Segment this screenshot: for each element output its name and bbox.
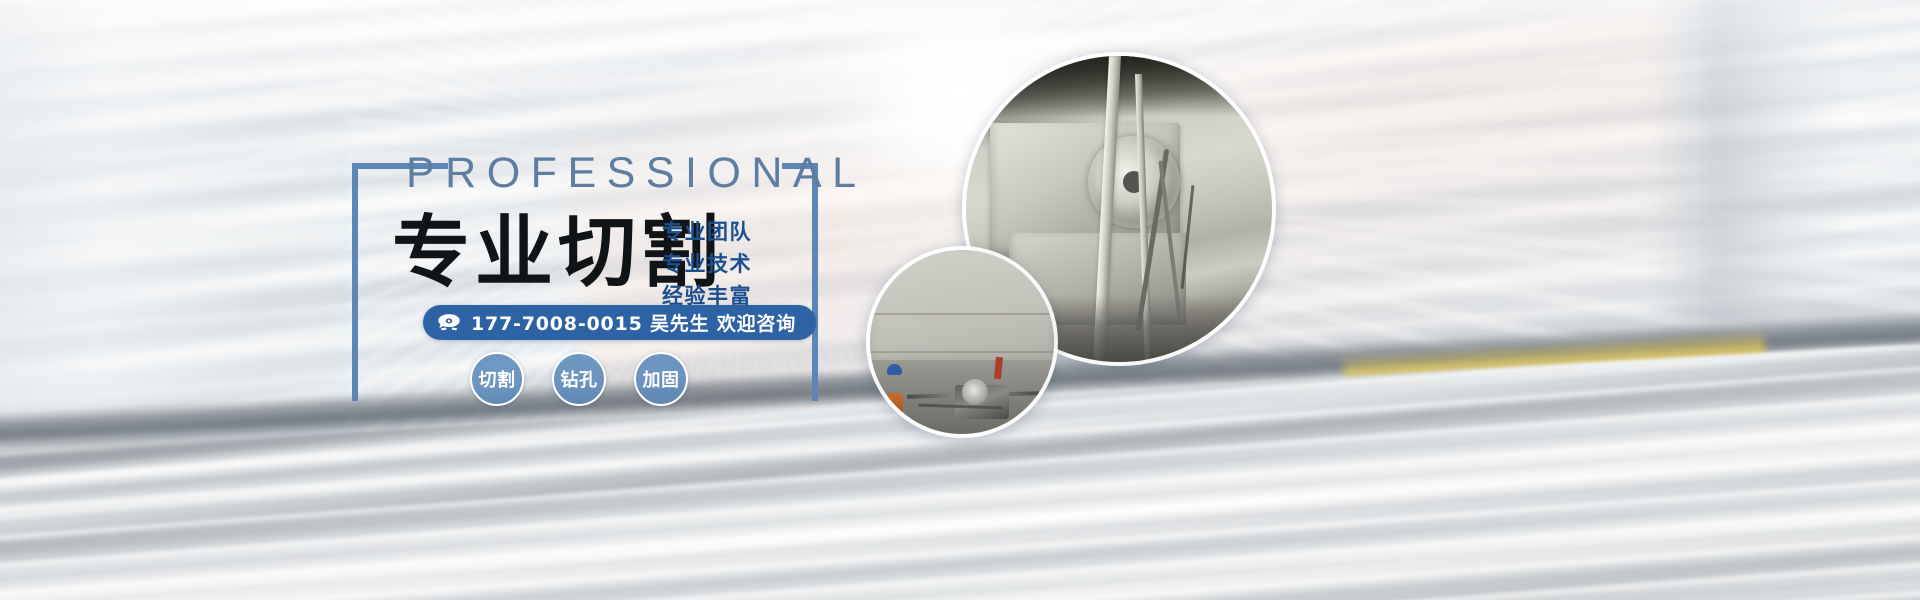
feature-list: 专业团队 专业技术 经验丰富 xyxy=(662,219,752,310)
contact-phone-text: 177-7008-0015 吴先生 欢迎咨询 xyxy=(471,309,796,336)
photo-sub-seam xyxy=(870,313,1054,315)
wall-saw-worker-photo xyxy=(866,246,1058,438)
feature-item-technology: 专业技术 xyxy=(662,251,752,278)
photo-sub-saw-blade xyxy=(962,379,988,405)
photo-sub-worker-body xyxy=(887,393,903,423)
feature-item-team: 专业团队 xyxy=(662,219,752,246)
photo-sub-seam-2 xyxy=(870,351,1054,353)
telephone-icon xyxy=(437,312,461,334)
promo-banner: PROFESSIONAL 专业切割 专业团队 专业技术 经验丰富 177-700… xyxy=(0,0,1920,600)
frame-left-segment xyxy=(352,163,358,401)
service-tag-drilling[interactable]: 钻孔 xyxy=(552,352,606,406)
photo-sub-wall xyxy=(870,250,1054,364)
service-tag-group: 切割 钻孔 加固 xyxy=(470,352,688,406)
service-tag-cutting[interactable]: 切割 xyxy=(470,352,524,406)
service-tag-reinforcement[interactable]: 加固 xyxy=(634,352,688,406)
photo-sub-worker-helmet xyxy=(887,364,902,375)
eyebrow-text: PROFESSIONAL xyxy=(406,152,867,195)
contact-phone-bar[interactable]: 177-7008-0015 吴先生 欢迎咨询 xyxy=(423,305,816,340)
frame-right-segment xyxy=(812,163,818,401)
